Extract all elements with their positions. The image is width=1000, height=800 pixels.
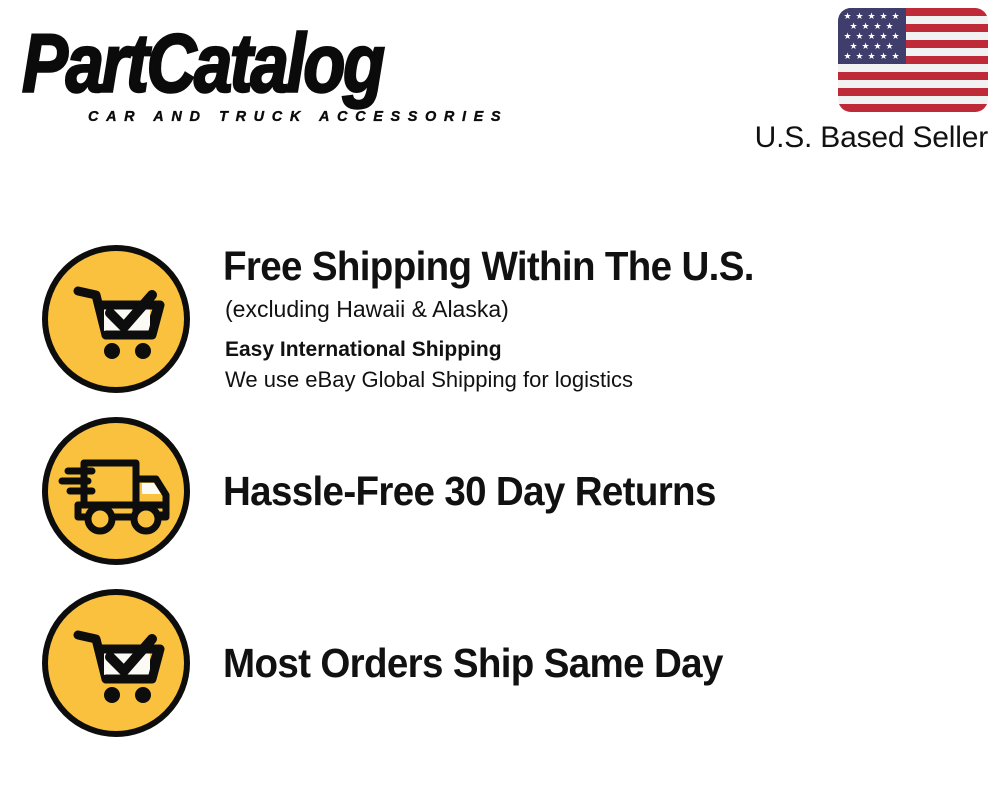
feature-title: Hassle-Free 30 Day Returns — [223, 468, 716, 515]
shopping-cart-check-icon — [42, 245, 190, 393]
delivery-truck-icon — [42, 417, 190, 565]
feature-secondary-title: Easy International Shipping — [225, 335, 502, 365]
feature-title: Most Orders Ship Same Day — [223, 640, 723, 687]
feature-secondary-text: We use eBay Global Shipping for logistic… — [225, 364, 633, 395]
feature-list: Free Shipping Within The U.S. (excluding… — [0, 0, 1000, 800]
feature-title: Free Shipping Within The U.S. — [223, 243, 754, 290]
feature-subtitle: (excluding Hawaii & Alaska) — [225, 294, 509, 324]
shopping-cart-check-icon — [42, 589, 190, 737]
